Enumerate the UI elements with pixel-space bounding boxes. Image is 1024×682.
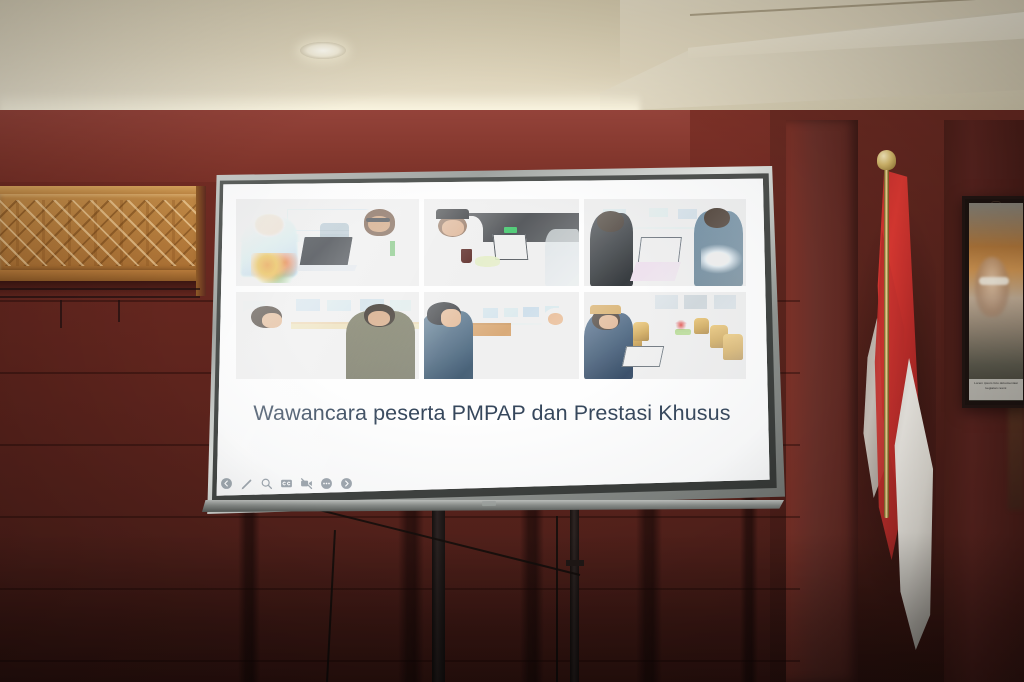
list-item bbox=[584, 199, 746, 286]
more-options-icon[interactable] bbox=[320, 477, 333, 490]
wall-mounted-tv[interactable]: Wawancara peserta PMPAP dan Prestasi Khu… bbox=[199, 166, 785, 514]
picture-caption: Lorem ipsum foto dokumentasi kegiatan re… bbox=[969, 379, 1023, 400]
picture-glass-glare bbox=[979, 277, 1009, 285]
list-item bbox=[424, 199, 579, 286]
carved-wood-frieze bbox=[0, 194, 198, 272]
carved-pattern bbox=[0, 200, 198, 266]
framed-picture: Lorem ipsum foto dokumentasi kegiatan re… bbox=[962, 196, 1024, 408]
photo-overexposure-wash bbox=[584, 199, 746, 286]
wall-cable bbox=[0, 296, 200, 298]
photo-overexposure-wash bbox=[424, 292, 579, 379]
wall-cable bbox=[0, 288, 200, 290]
tv-mount-post bbox=[570, 508, 579, 682]
list-item bbox=[584, 292, 746, 379]
photo-overexposure-wash bbox=[424, 199, 579, 286]
tv-brand-logo bbox=[482, 501, 496, 506]
tv-screen[interactable]: Wawancara peserta PMPAP dan Prestasi Khu… bbox=[211, 177, 773, 499]
tv-cable bbox=[556, 516, 558, 682]
photo-overexposure-wash bbox=[236, 292, 419, 379]
forward-arrow-icon[interactable] bbox=[340, 477, 353, 490]
tv-mount-bracket bbox=[566, 560, 584, 566]
list-item bbox=[424, 292, 579, 379]
list-item bbox=[236, 292, 419, 379]
list-item bbox=[236, 199, 419, 286]
presentation-slide[interactable]: Wawancara peserta PMPAP dan Prestasi Khu… bbox=[211, 177, 773, 499]
flag-finial bbox=[877, 150, 896, 170]
tv-mount-post bbox=[432, 508, 445, 682]
recessed-downlight bbox=[300, 42, 346, 59]
photo-overexposure-wash bbox=[236, 199, 419, 286]
presentation-toolbar[interactable] bbox=[220, 477, 353, 490]
search-icon[interactable] bbox=[260, 477, 273, 490]
flag-pole bbox=[884, 158, 889, 518]
picture-subject bbox=[975, 257, 1009, 317]
wall-cable bbox=[60, 300, 62, 328]
pen-icon[interactable] bbox=[240, 477, 253, 490]
picture-caption-line-2: kegiatan resmi bbox=[971, 386, 1021, 391]
back-arrow-icon[interactable] bbox=[220, 477, 233, 490]
photo-overexposure-wash bbox=[584, 292, 746, 379]
closed-caption-icon[interactable] bbox=[280, 477, 293, 490]
slide-photo-grid bbox=[236, 199, 746, 379]
meeting-room-scene: Lorem ipsum foto dokumentasi kegiatan re… bbox=[0, 0, 1024, 682]
indonesian-flag bbox=[856, 170, 934, 650]
video-off-icon[interactable] bbox=[300, 477, 313, 490]
carved-panel-bottom-trim bbox=[0, 270, 200, 281]
slide-title: Wawancara peserta PMPAP dan Prestasi Khu… bbox=[211, 401, 773, 426]
wall-cable bbox=[118, 300, 120, 322]
